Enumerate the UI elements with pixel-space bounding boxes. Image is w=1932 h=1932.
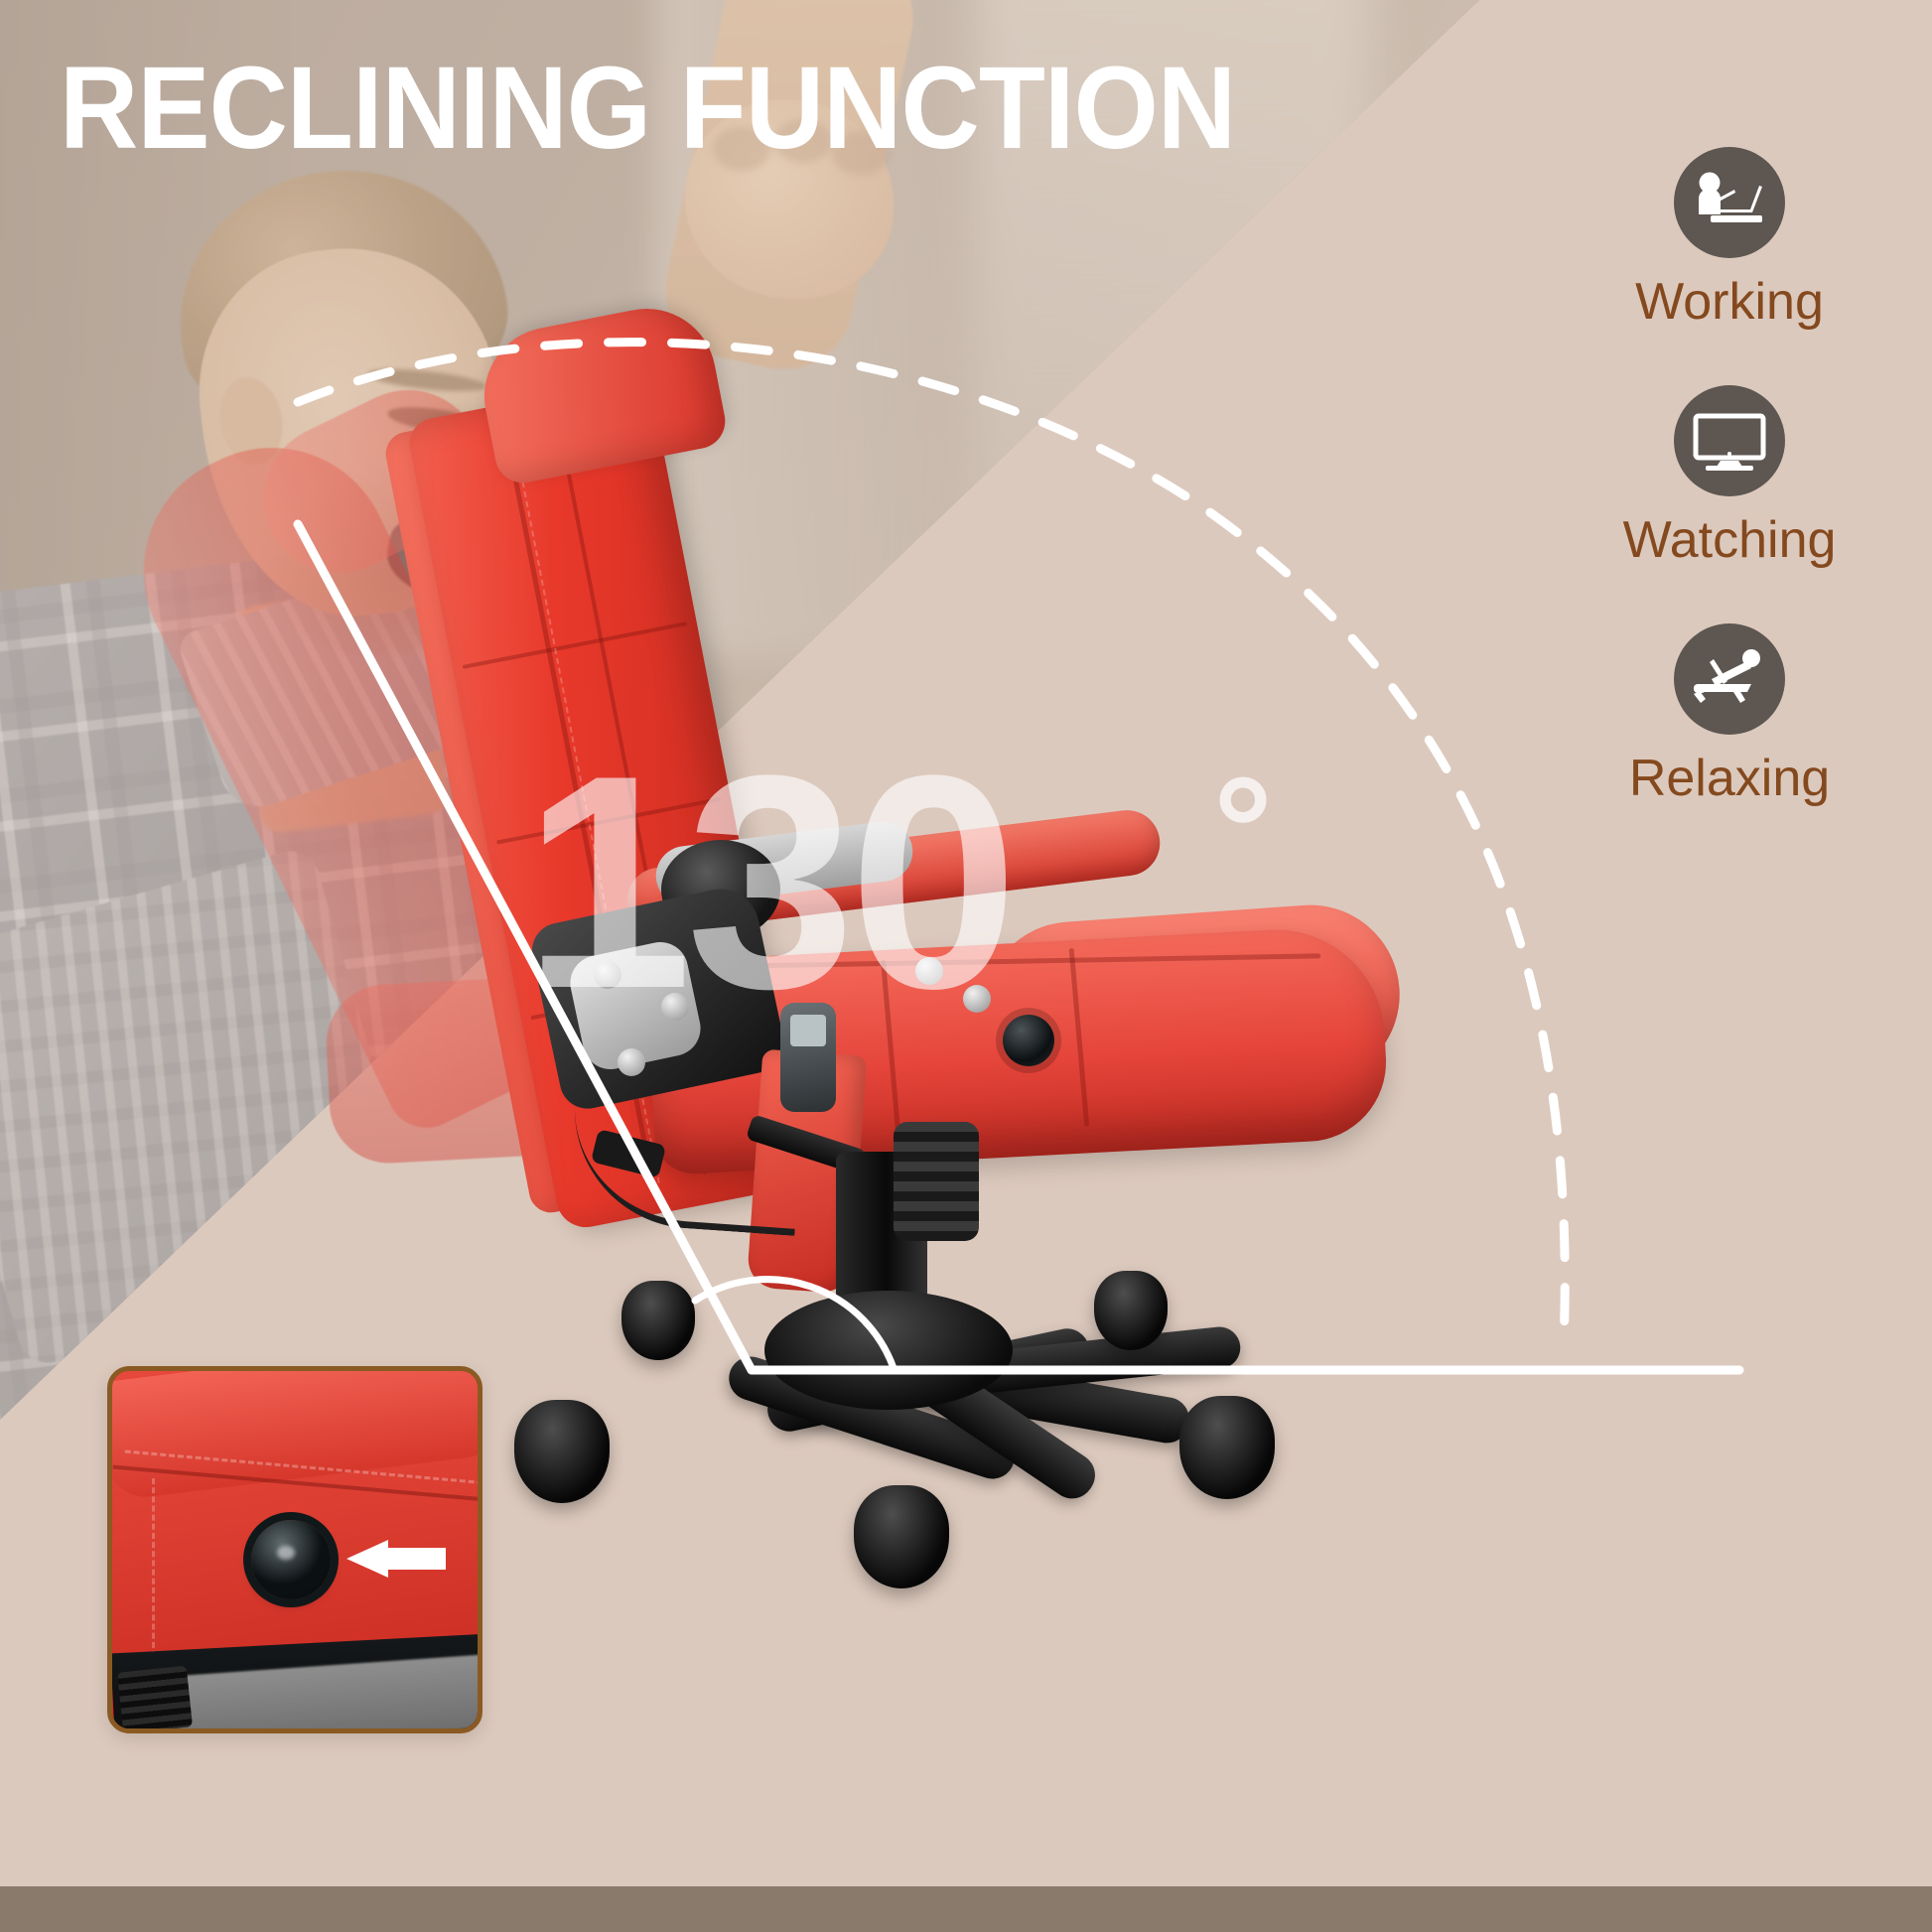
feature-item-watching[interactable]: Watching <box>1581 385 1878 570</box>
person-reclining-on-lounger-icon <box>1690 648 1769 710</box>
feature-label-working: Working <box>1635 272 1824 332</box>
relaxing-icon-circle <box>1674 623 1785 735</box>
gas-lift-collar <box>894 1122 979 1241</box>
caster-wheel <box>1179 1396 1275 1499</box>
working-icon-circle <box>1674 147 1785 258</box>
office-chair <box>427 298 1420 1886</box>
feature-item-relaxing[interactable]: Relaxing <box>1581 623 1878 808</box>
seat-seam <box>1069 948 1090 1127</box>
feature-label-watching: Watching <box>1623 510 1837 570</box>
left-pointing-arrow-icon <box>339 1538 448 1580</box>
product-feature-image: 130 ° RECLINING FUNCTION Working <box>0 0 1932 1932</box>
page-title: RECLINING FUNCTION <box>60 48 1235 171</box>
inset-vertical-stitching <box>152 1478 155 1657</box>
chair-headrest <box>473 297 730 487</box>
feature-item-working[interactable]: Working <box>1581 147 1878 332</box>
caster-wheel <box>514 1400 610 1503</box>
inset-gaslift-threads <box>117 1666 193 1733</box>
base-hub <box>764 1291 1013 1410</box>
caster-wheel <box>854 1485 949 1588</box>
person-at-laptop-icon <box>1691 172 1768 233</box>
footer-bar <box>0 1886 1932 1932</box>
caster-wheel <box>1094 1271 1168 1350</box>
inset-recline-knob[interactable] <box>251 1520 331 1599</box>
feature-list: Working Watching <box>1581 147 1878 862</box>
caster-wheel <box>621 1281 695 1360</box>
inset-knob-highlight <box>277 1546 295 1560</box>
backrest-seam <box>463 621 688 669</box>
recline-angle-value: 130 <box>523 730 1013 1034</box>
watching-icon-circle <box>1674 385 1785 496</box>
degree-symbol: ° <box>1213 755 1273 903</box>
feature-label-relaxing: Relaxing <box>1629 749 1830 808</box>
television-monitor-icon <box>1691 410 1768 472</box>
detail-inset-card <box>107 1366 483 1733</box>
rivet <box>618 1048 645 1076</box>
